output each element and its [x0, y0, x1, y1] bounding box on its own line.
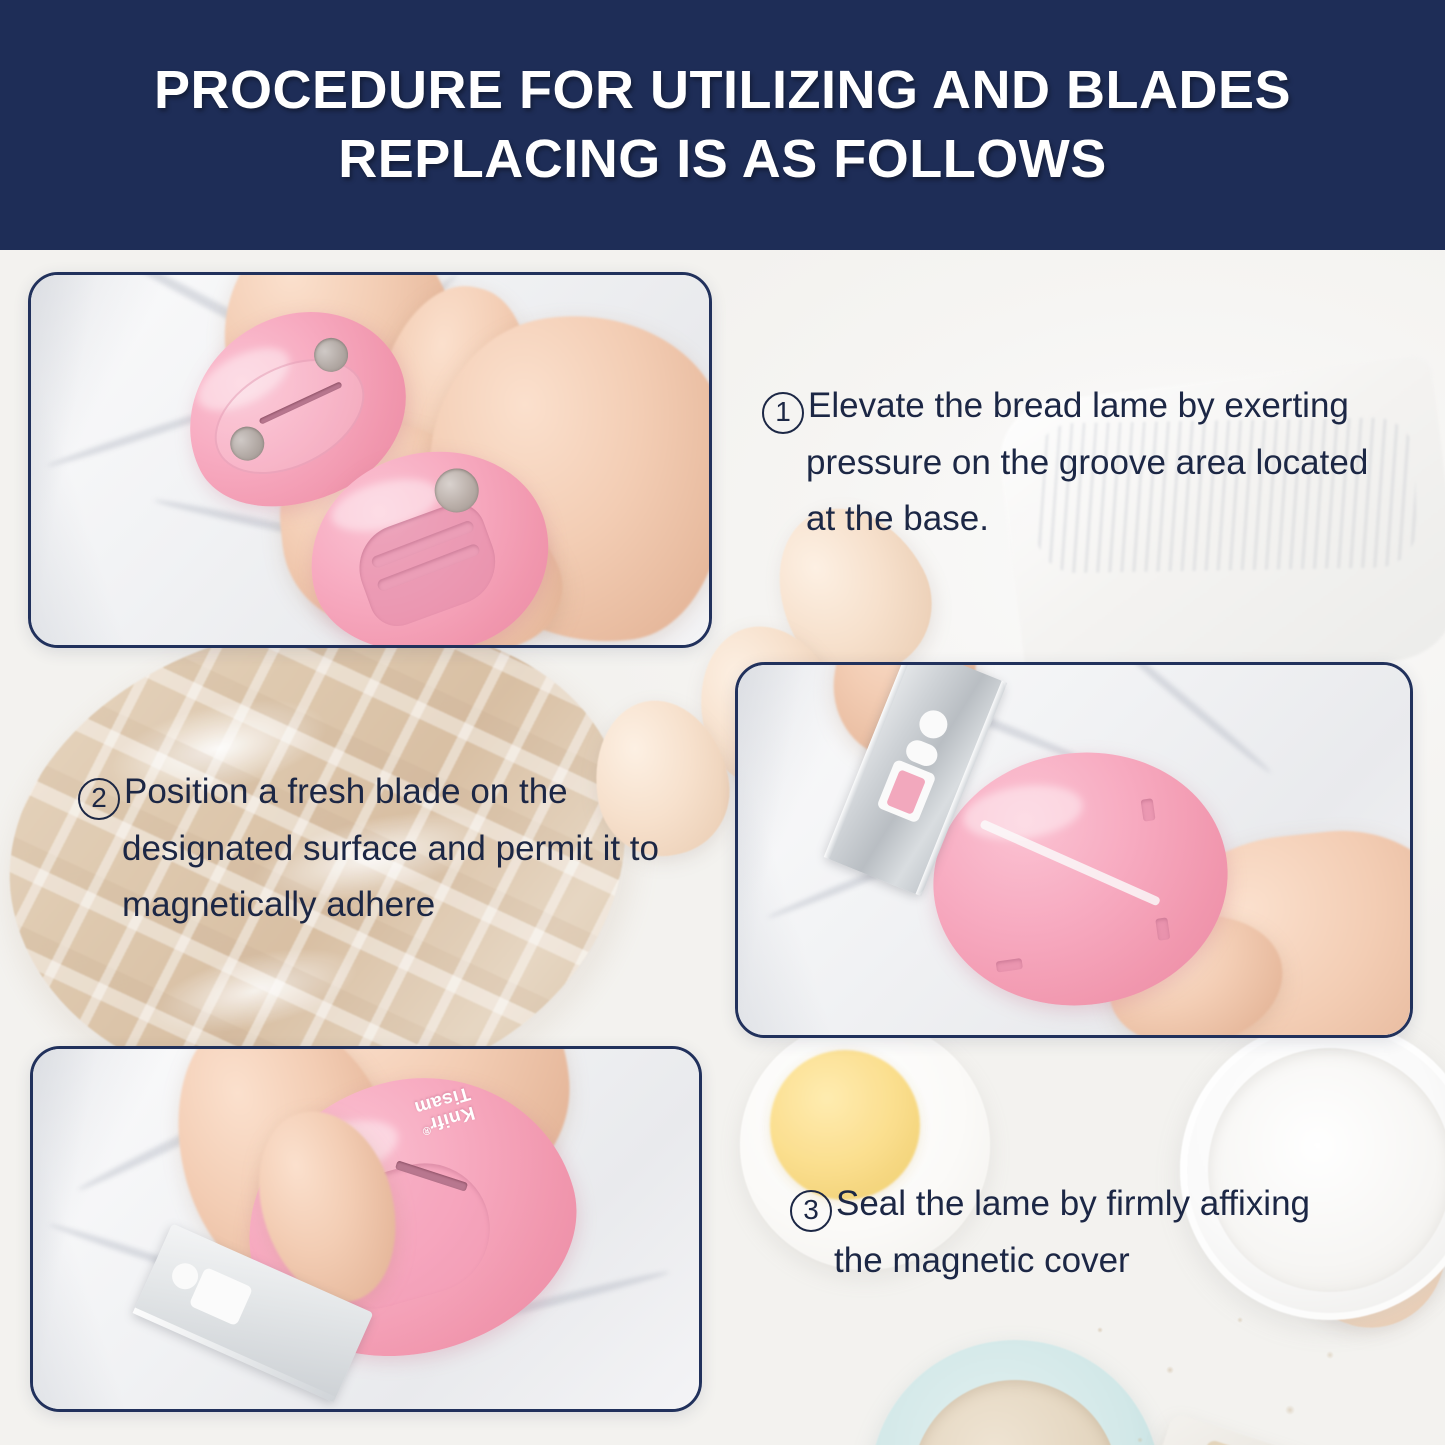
step-1-photo-panel [28, 272, 712, 648]
brand-label: Knifr® Tisam [381, 1074, 507, 1146]
circled-number-1-icon: 1 [762, 392, 804, 434]
crumbs-graphic [1080, 1300, 1360, 1445]
step-1-text: 1Elevate the bread lame by exerting pres… [762, 378, 1412, 548]
step-2-line-2: designated surface and permit it to [122, 821, 698, 878]
circled-number-3-icon: 3 [790, 1190, 832, 1232]
circled-number-2-icon: 2 [78, 778, 120, 820]
instruction-poster: PROCEDURE FOR UTILIZING AND BLADES REPLA… [0, 0, 1445, 1445]
header-banner: PROCEDURE FOR UTILIZING AND BLADES REPLA… [0, 0, 1445, 250]
step-2-photo-panel [735, 662, 1413, 1038]
step-3-photo-panel: Knifr® Tisam [30, 1046, 702, 1412]
step-1-line-2: pressure on the groove area located [806, 435, 1412, 492]
step-1-line-3: at the base. [806, 491, 1412, 548]
step-2-line-1: Position a fresh blade on the [124, 772, 568, 811]
step-2-text: 2Position a fresh blade on the designate… [78, 764, 698, 934]
step-2-line-3: magnetically adhere [122, 877, 698, 934]
page-title: PROCEDURE FOR UTILIZING AND BLADES REPLA… [73, 56, 1373, 194]
step-3-line-2: the magnetic cover [834, 1233, 1390, 1290]
step-3-text: 3Seal the lame by firmly affixing the ma… [790, 1176, 1390, 1289]
step-3-line-1: Seal the lame by firmly affixing [836, 1184, 1310, 1223]
step-1-line-1: Elevate the bread lame by exerting [808, 386, 1349, 425]
